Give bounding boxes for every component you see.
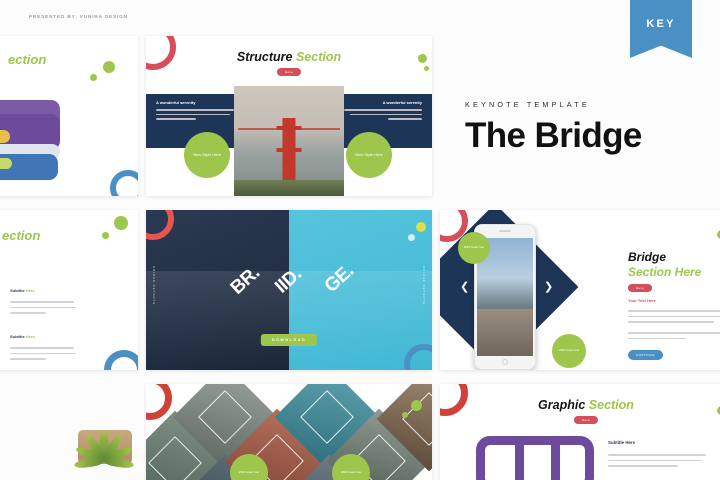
line — [628, 332, 720, 334]
circle-new-style-right[interactable]: New Style Here — [346, 132, 392, 178]
text-box-right: A wonderful serenity — [338, 100, 422, 120]
circle-2018-bottom[interactable]: 2018 Great Year — [552, 334, 586, 368]
presented-by-label: PRESENTED BY: VUNIRA DESIGN — [29, 14, 128, 19]
yellow-dot-decor — [416, 222, 426, 232]
slide5-body-2 — [628, 332, 720, 339]
circle-bottom-label: 2018 Great Year — [559, 349, 579, 353]
plant-decoration — [66, 386, 142, 464]
line — [350, 114, 422, 116]
slide7-subtitle: Subtitle Here — [608, 440, 635, 445]
tower-bar-top — [277, 126, 302, 130]
slide7-body — [608, 454, 706, 467]
slide-graphic-section[interactable]: Graphic Section Here Subtitle Here — [440, 384, 720, 480]
blue-ring-decor — [110, 170, 138, 196]
line — [628, 338, 686, 340]
slide-bridge-section-here[interactable]: ❮ ❯ 2018 Great Year 2018 Great Year Brid… — [440, 210, 720, 370]
slide-subtitle-list[interactable]: ection Subtitle Here Subtitle Here — [0, 210, 138, 370]
slide2-heading: Structure Section — [146, 50, 432, 64]
text-block-1: Subtitle Here — [10, 288, 76, 314]
slide5-heading-2: Section Here — [628, 265, 701, 279]
block2-subtitle: Subtitle Here — [10, 334, 76, 339]
line — [10, 347, 74, 349]
side-text-right: BRIDGE KEYNOTE — [422, 266, 426, 305]
purple-divider-1 — [515, 436, 524, 480]
line — [344, 109, 422, 111]
slide-card-stack[interactable]: ection — [0, 36, 138, 196]
line — [10, 358, 46, 360]
hero-kicker: KEYNOTE TEMPLATE — [465, 100, 715, 109]
phone-speaker — [499, 230, 511, 232]
key-ribbon-badge: KEY — [630, 0, 692, 58]
slide-diamond-gallery[interactable]: 2018 Great Year 2018 Great Year — [146, 384, 432, 480]
slide5-subhead: Your Text Here — [628, 298, 656, 303]
green-dot-decor-small — [424, 66, 429, 71]
green-dot-large — [114, 216, 128, 230]
text-box-right-title: A wonderful serenity — [338, 100, 422, 105]
green-dot-small — [90, 74, 97, 81]
line — [10, 353, 76, 355]
bridge-ground — [234, 180, 344, 196]
slide3-heading: ection — [2, 228, 40, 243]
slide7-heading: Graphic Section — [440, 398, 720, 412]
slide5-heading-1: Bridge — [628, 250, 666, 264]
line — [608, 454, 706, 456]
side-text-left: BRIDGE KEYNOTE — [152, 266, 156, 305]
hero-title-block: KEYNOTE TEMPLATE The Bridge — [465, 100, 715, 153]
circle-right-label: New Style Here — [355, 152, 383, 157]
green-dot-small — [102, 232, 109, 239]
line — [628, 321, 714, 323]
line — [156, 118, 196, 120]
bridge-tower — [283, 118, 296, 188]
purple-divider-2 — [551, 436, 560, 480]
block1-subtitle: Subtitle Here — [10, 288, 76, 293]
white-dot-decor — [408, 234, 415, 241]
line — [10, 312, 46, 314]
text-block-2: Subtitle Here — [10, 334, 76, 360]
arrow-left-icon[interactable]: ❮ — [460, 282, 469, 293]
slide5-body — [628, 310, 720, 323]
purple-graphic — [476, 436, 594, 480]
slide5-badge: Here — [628, 284, 652, 292]
green-dot-decor-small — [402, 412, 408, 418]
phone-home-button — [502, 359, 508, 365]
slide-bridge-split[interactable]: BRIDGE KEYNOTE BRIDGE KEYNOTE BR. IID. G… — [146, 210, 432, 370]
card-stack-graphic — [0, 100, 64, 186]
tower-bar-mid — [277, 148, 302, 152]
circle-left-label: New Style Here — [193, 152, 221, 157]
dock-photo — [477, 309, 533, 356]
circle-right-label: 2018 Great Year — [341, 471, 361, 475]
line — [156, 114, 230, 116]
circle-top-label: 2018 Great Year — [464, 246, 484, 250]
line — [10, 307, 76, 309]
line — [628, 310, 720, 312]
bridge-photo — [234, 86, 344, 196]
green-dot-decor — [411, 400, 422, 411]
preview-canvas: PRESENTED BY: VUNIRA DESIGN KEY KEYNOTE … — [0, 0, 720, 480]
circle-new-style-left[interactable]: New Style Here — [184, 132, 230, 178]
chip-lime-2 — [0, 158, 12, 169]
hero-title: The Bridge — [465, 118, 715, 153]
line — [10, 301, 74, 303]
slide2-badge: Here — [277, 68, 301, 76]
download-button[interactable]: DOWNLOAD — [261, 334, 317, 346]
blue-ring-decor — [104, 350, 138, 370]
line — [608, 460, 702, 462]
line — [388, 118, 422, 120]
red-ring-decor — [146, 384, 172, 420]
line — [156, 109, 234, 111]
line — [628, 316, 720, 318]
slide1-heading: ection — [8, 52, 46, 67]
circle-2018-top[interactable]: 2018 Great Year — [458, 232, 490, 264]
green-dot-large — [103, 61, 115, 73]
arrow-right-icon[interactable]: ❯ — [544, 282, 553, 293]
line — [608, 465, 678, 467]
slide-structure-section[interactable]: Structure Section Here A wonderful seren… — [146, 36, 432, 196]
mountain-overlay-left — [146, 271, 289, 370]
text-box-left-title: A wonderful serenity — [156, 100, 240, 105]
key-badge-label: KEY — [646, 18, 675, 30]
text-box-left: A wonderful serenity — [156, 100, 240, 120]
slide7-badge: Here — [574, 416, 598, 424]
continue-button[interactable]: CONTINUE — [628, 350, 663, 360]
circle-left-label: 2018 Great Year — [239, 471, 259, 475]
